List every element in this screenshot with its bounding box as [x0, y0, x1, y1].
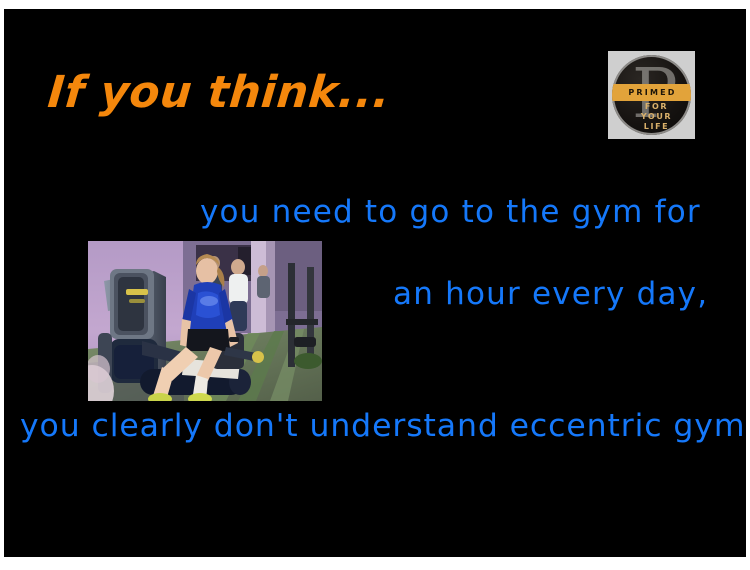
photo-illustration: [88, 241, 322, 401]
body-line-3: you clearly don't understand eccentric g…: [20, 411, 746, 443]
logo-brand-band: PRIMED: [612, 84, 691, 101]
body-line-1: you need to go to the gym for: [200, 197, 701, 228]
logo-tagline: FOR YOUR LIFE: [612, 102, 691, 132]
brand-logo: P PRIMED FOR YOUR LIFE: [608, 51, 695, 139]
logo-tagline-line-2: YOUR: [622, 112, 691, 122]
body-line-2: an hour every day,: [393, 279, 708, 310]
presentation-slide: If you think... P PRIMED FOR YOUR LIFE: [4, 9, 746, 557]
slide-title: If you think...: [46, 71, 392, 115]
gym-machine-photo: [88, 241, 322, 401]
logo-tagline-line-3: LIFE: [622, 122, 691, 132]
logo-circle: P PRIMED FOR YOUR LIFE: [612, 55, 691, 135]
logo-brand-text: PRIMED: [626, 88, 676, 97]
logo-tagline-line-1: FOR: [622, 102, 691, 112]
